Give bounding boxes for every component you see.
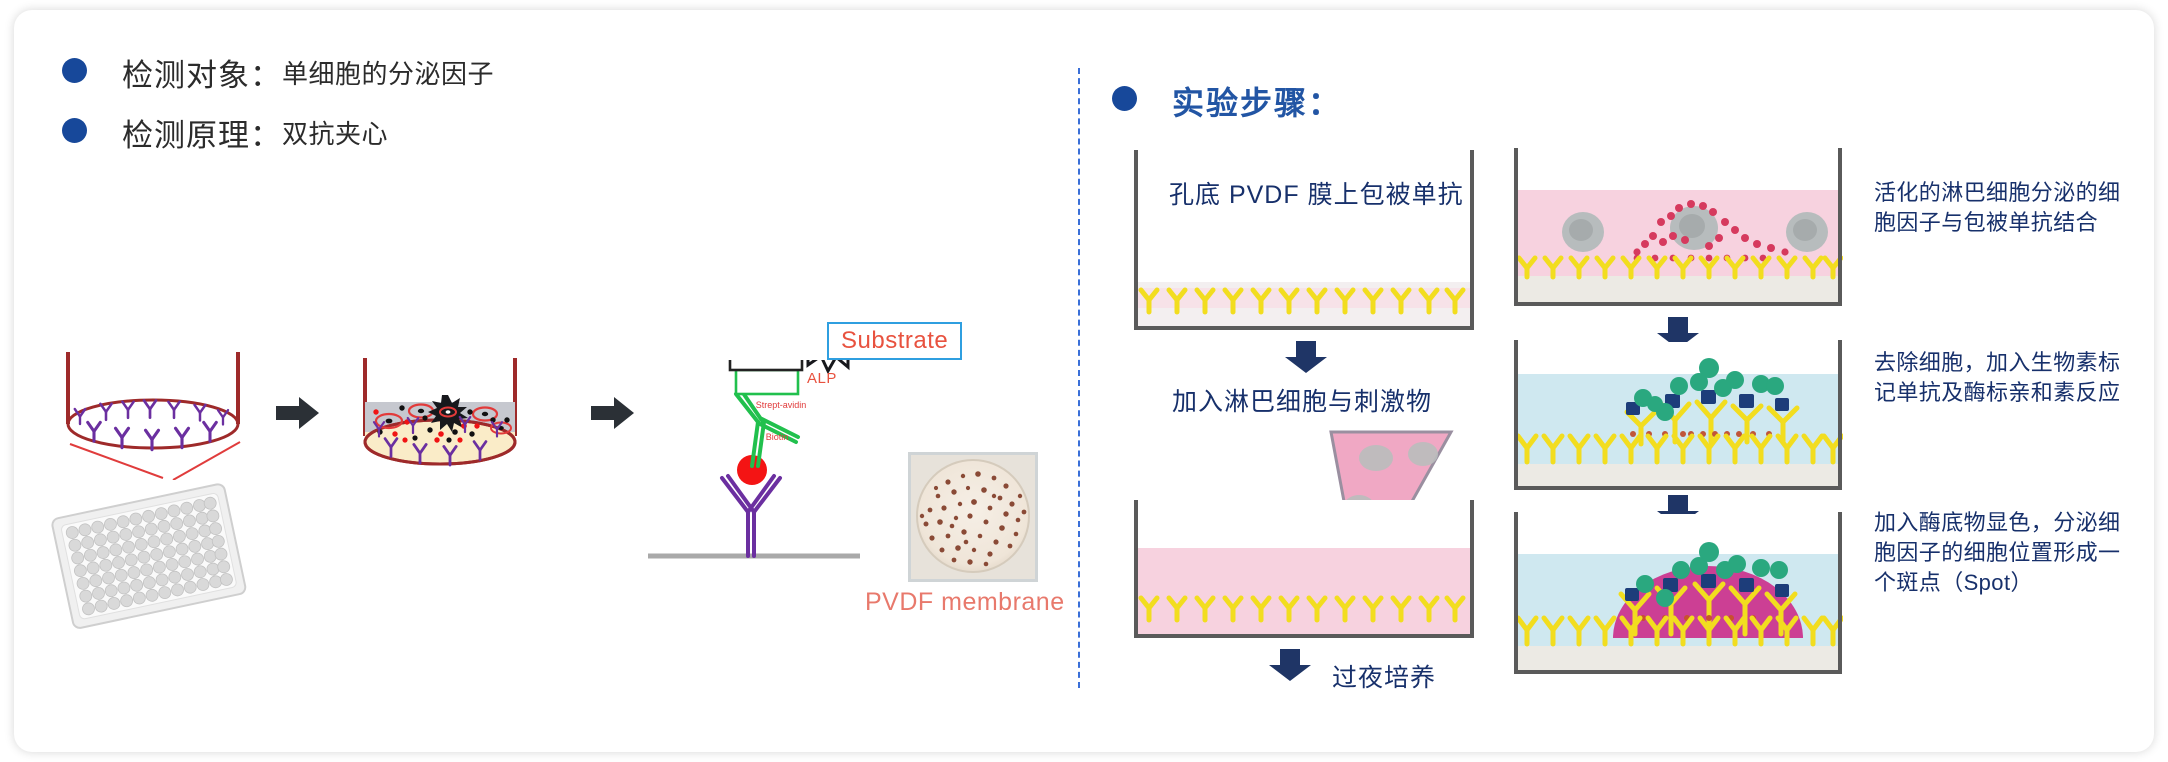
well-cells-secreting-diagram <box>345 350 575 480</box>
right-arrow-icon-2 <box>590 395 636 431</box>
right-arrow-icon-1 <box>275 395 321 431</box>
down-arrow-icon-2 <box>1268 648 1312 682</box>
bullet-normal-text: 单细胞的分泌因子 <box>282 54 494 91</box>
panel-divider <box>1078 68 1080 688</box>
step-4-note: 活化的淋巴细胞分泌的细胞因子与包被单抗结合 <box>1874 178 2124 238</box>
screenshot-canvas: 检测对象： 单细胞的分泌因子 检测原理： 双抗夹心 <box>0 0 2168 762</box>
right-panel-header: 实验步骤： <box>1112 78 1342 124</box>
alp-label: ALP <box>807 370 837 387</box>
elispot-well-photo <box>908 452 1038 582</box>
pvdf-membrane-label: PVDF membrane <box>865 588 1065 617</box>
substrate-label-text: Substrate <box>841 327 948 354</box>
biotin-label: Biotin <box>742 432 812 442</box>
step-2-caption: 加入淋巴细胞与刺激物 <box>1172 382 1432 418</box>
step-panel-6-spot <box>1513 512 1843 674</box>
streptavidin-label: Strept-avidin <box>742 400 820 410</box>
right-header-text: 实验步骤： <box>1172 78 1342 124</box>
blue-dot-icon <box>1112 86 1146 116</box>
bullet-item-detection-target: 检测对象： 单细胞的分泌因子 <box>62 50 494 95</box>
bullet-strong-text: 检测对象： <box>122 50 282 95</box>
step-panel-5-detection <box>1513 340 1843 490</box>
step-3-caption: 过夜培养 <box>1332 658 1436 694</box>
blue-dot-icon <box>62 58 96 88</box>
blue-dot-icon <box>62 118 96 148</box>
bullet-strong-text: 检测原理： <box>122 110 282 155</box>
substrate-label-box: Substrate <box>827 322 962 360</box>
step-6-note: 加入酶底物显色，分泌细胞因子的细胞位置形成一个斑点（Spot） <box>1874 508 2124 598</box>
96-well-microplate-icon <box>42 472 257 632</box>
step-panel-4-cytokine-binding <box>1513 148 1843 306</box>
step-1-caption: 孔底 PVDF 膜上包被单抗 <box>1169 175 1464 211</box>
bullet-normal-text: 双抗夹心 <box>282 114 388 151</box>
step-5-note: 去除细胞，加入生物素标记单抗及酶标亲和素反应 <box>1874 348 2124 408</box>
step-panel-2-add-cells <box>1133 430 1475 640</box>
bullet-item-detection-principle: 检测原理： 双抗夹心 <box>62 110 388 155</box>
down-arrow-icon-1 <box>1284 340 1328 374</box>
